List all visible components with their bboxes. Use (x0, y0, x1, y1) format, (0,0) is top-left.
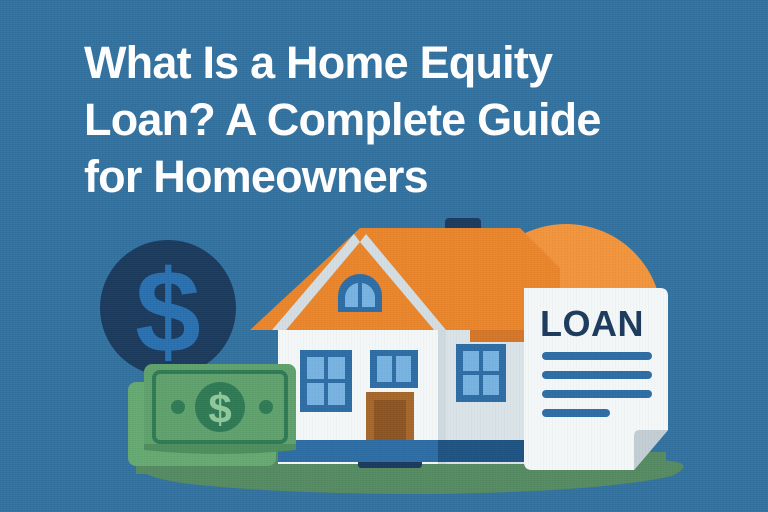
front-right-window-pane-2 (396, 356, 411, 382)
document-title: LOAN (540, 303, 644, 344)
front-left-window-pane-2 (328, 357, 345, 379)
cash-banknotes: $ (128, 364, 296, 466)
document-text-line-1 (542, 352, 652, 360)
front-right-window-pane-1 (377, 356, 392, 382)
banknote-dot-right (259, 400, 273, 414)
banknote-dollar-symbol: $ (208, 385, 231, 432)
side-wing-window-pane-3 (463, 375, 479, 395)
house-foundation (278, 440, 442, 462)
page-title-line-2: Loan? A Complete Guide (84, 91, 684, 148)
front-left-window-pane-3 (307, 383, 324, 405)
dollar-coin-symbol: $ (135, 246, 201, 378)
document-text-line-3 (542, 390, 652, 398)
page-title-line-1: What Is a Home Equity (84, 34, 684, 91)
front-left-window-pane-4 (328, 383, 345, 405)
document-text-line-4 (542, 409, 610, 417)
hero-banner: $ (0, 0, 768, 512)
side-wing-window-pane-2 (483, 351, 499, 371)
page-title-line-3: for Homeowners (84, 148, 684, 205)
page-title: What Is a Home Equity Loan? A Complete G… (84, 34, 684, 205)
front-left-window-pane-1 (307, 357, 324, 379)
document-text-line-2 (542, 371, 652, 379)
banknote-dot-left (171, 400, 185, 414)
side-wing-window-pane-4 (483, 375, 499, 395)
loan-document: LOAN (524, 288, 668, 470)
side-wing-window-pane-1 (463, 351, 479, 371)
